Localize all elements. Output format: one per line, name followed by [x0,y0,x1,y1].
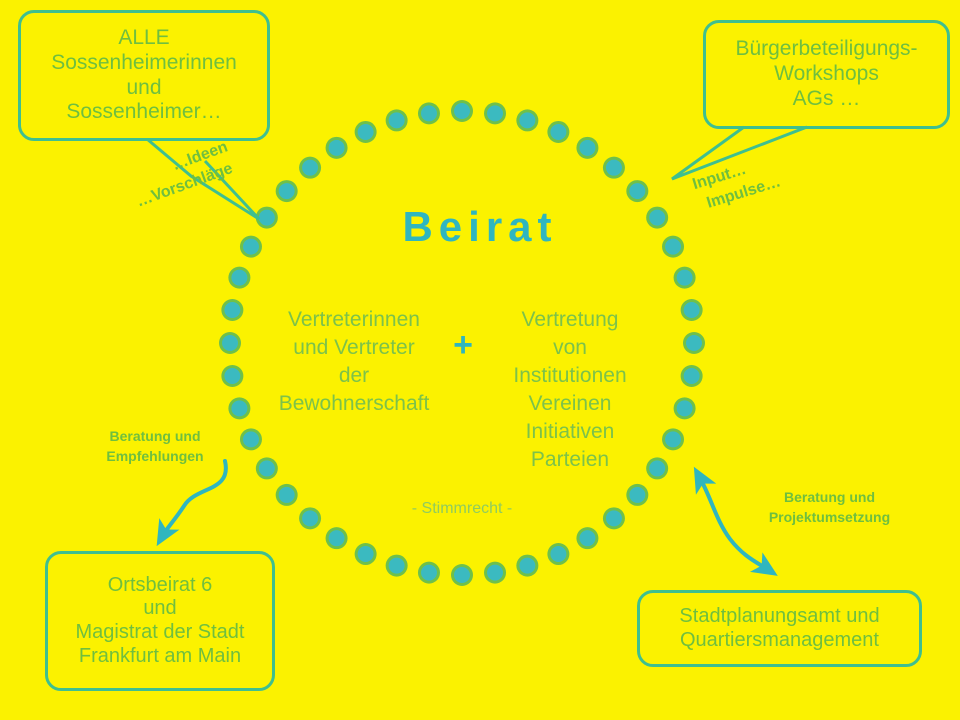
diagram-canvas: ALLE Sossenheimerinnen und Sossenheimer…… [0,0,960,720]
ring-dot [326,527,348,549]
ring-dot-core [579,530,595,546]
center-right-line-3: Institutionen [474,362,666,390]
ring-dot-core [487,565,503,581]
ring-dot [299,507,321,529]
ring-dot [228,267,250,289]
ring-dot [626,180,648,202]
center-column-right: Vertretung von Institutionen Vereinen In… [474,306,666,474]
ring-dot-core [358,546,374,562]
annotation-beratung-links-line-2: Empfehlungen [80,446,230,466]
annotation-ideen: …Ideen …Vorschläge [126,136,238,212]
ring-dot-core [243,431,259,447]
ring-dot-core [222,335,238,351]
ring-dot [240,428,262,450]
ring-dot [228,397,250,419]
ring-dot-core [231,270,247,286]
ring-dot-core [550,124,566,140]
ring-dot [221,365,243,387]
ring-dot-core [421,105,437,121]
bubble-workshops-line-3: AGs … [714,87,939,112]
box-ortsbeirat-line-3: Magistrat der Stadt [56,621,264,645]
center-right-line-5: Initiativen [474,418,666,446]
ring-dot-core [606,160,622,176]
ring-dot-core [677,270,693,286]
ring-dot-core [358,124,374,140]
center-left-line-4: Bewohnerschaft [258,390,450,418]
ring-dot-core [684,368,700,384]
center-column-left: Vertreterinnen und Vertreter der Bewohne… [258,306,450,418]
ring-dot-core [329,530,345,546]
ring-dot-core [224,368,240,384]
ring-dot [626,484,648,506]
ring-dot-core [224,302,240,318]
ring-dot [576,527,598,549]
center-right-line-4: Vereinen [474,390,666,418]
box-ortsbeirat: Ortsbeirat 6 und Magistrat der Stadt Fra… [45,551,275,691]
ring-dot [386,109,408,131]
ring-dot-core [579,140,595,156]
ring-dot-core [259,460,275,476]
bubble-workshops-line-1: Bürgerbeteiligungs- [714,37,939,62]
ring-dot-core [389,558,405,574]
ring-dot-core [279,487,295,503]
ring-dot-core [329,140,345,156]
ring-dot-core [606,510,622,526]
ring-dot [451,100,473,122]
ring-dot [418,102,440,124]
ring-dot-core [686,335,702,351]
annotation-beratung-projektumsetzung: Beratung und Projektumsetzung [742,487,917,528]
annotation-beratung-rechts-line-1: Beratung und [742,487,917,507]
box-stadtplanung-line-1: Stadtplanungsamt und [648,605,911,629]
ring-dot [681,299,703,321]
annotation-beratung-links-line-1: Beratung und [80,426,230,446]
ring-dot-core [684,302,700,318]
bubble-workshops-line-2: Workshops [714,62,939,87]
ring-dot-core [421,565,437,581]
center-right-line-6: Parteien [474,446,666,474]
ring-dot-core [629,487,645,503]
annotation-beratung-empfehlungen: Beratung und Empfehlungen [80,426,230,467]
bubble-residents-line-2: Sossenheimerinnen [29,51,259,76]
ring-dot-core [487,105,503,121]
ring-dot [299,157,321,179]
ring-dot [256,457,278,479]
ring-dot [547,543,569,565]
ring-dot [603,157,625,179]
box-ortsbeirat-line-2: und [56,597,264,621]
ring-dot-core [302,160,318,176]
box-stadtplanung-line-2: Quartiersmanagement [648,629,911,653]
center-right-line-2: von [474,334,666,362]
box-ortsbeirat-line-1: Ortsbeirat 6 [56,574,264,598]
box-ortsbeirat-line-4: Frankfurt am Main [56,645,264,669]
ring-dot-core [302,510,318,526]
ring-dot [276,484,298,506]
bubble-residents-line-3: und [29,76,259,101]
box-stadtplanung: Stadtplanungsamt und Quartiersmanagement [637,590,922,667]
ring-dot-core [629,183,645,199]
ring-dot [386,555,408,577]
bubble-residents: ALLE Sossenheimerinnen und Sossenheimer… [18,10,270,141]
center-left-line-2: und Vertreter [258,334,450,362]
ring-dot [418,562,440,584]
ring-dot-core [665,431,681,447]
ring-dot [683,332,705,354]
ring-dot [451,564,473,586]
ring-dot [516,555,538,577]
ring-dot [276,180,298,202]
ring-dot [681,365,703,387]
ring-dot-core [454,567,470,583]
ring-dot [576,137,598,159]
center-left-line-3: der [258,362,450,390]
ring-dot [355,121,377,143]
ring-dot-core [550,546,566,562]
ring-dot [484,562,506,584]
ring-dot [355,543,377,565]
bubble-residents-line-1: ALLE [29,26,259,51]
ring-dot-core [279,183,295,199]
ring-dot-core [519,112,535,128]
ring-dot-core [231,400,247,416]
ring-dot-core [454,103,470,119]
bubble-workshops: Bürgerbeteiligungs- Workshops AGs … [703,20,950,129]
ring-dot [219,332,241,354]
ring-dot [221,299,243,321]
annotation-beratung-rechts-line-2: Projektumsetzung [742,507,917,527]
ring-dot [516,109,538,131]
bubble-residents-line-4: Sossenheimer… [29,100,259,125]
center-left-line-1: Vertreterinnen [258,306,450,334]
ring-dot [547,121,569,143]
center-right-line-1: Vertretung [474,306,666,334]
arrow-beratung-empfehlungen [163,461,226,535]
ring-dot [484,102,506,124]
ring-dot-core [677,400,693,416]
ring-dot-core [519,558,535,574]
ring-dot [674,267,696,289]
ring-dot [603,507,625,529]
ring-dot-core [389,112,405,128]
ring-dot [674,397,696,419]
ring-dot [326,137,348,159]
center-footnote: - Stimmrecht - [362,500,562,518]
